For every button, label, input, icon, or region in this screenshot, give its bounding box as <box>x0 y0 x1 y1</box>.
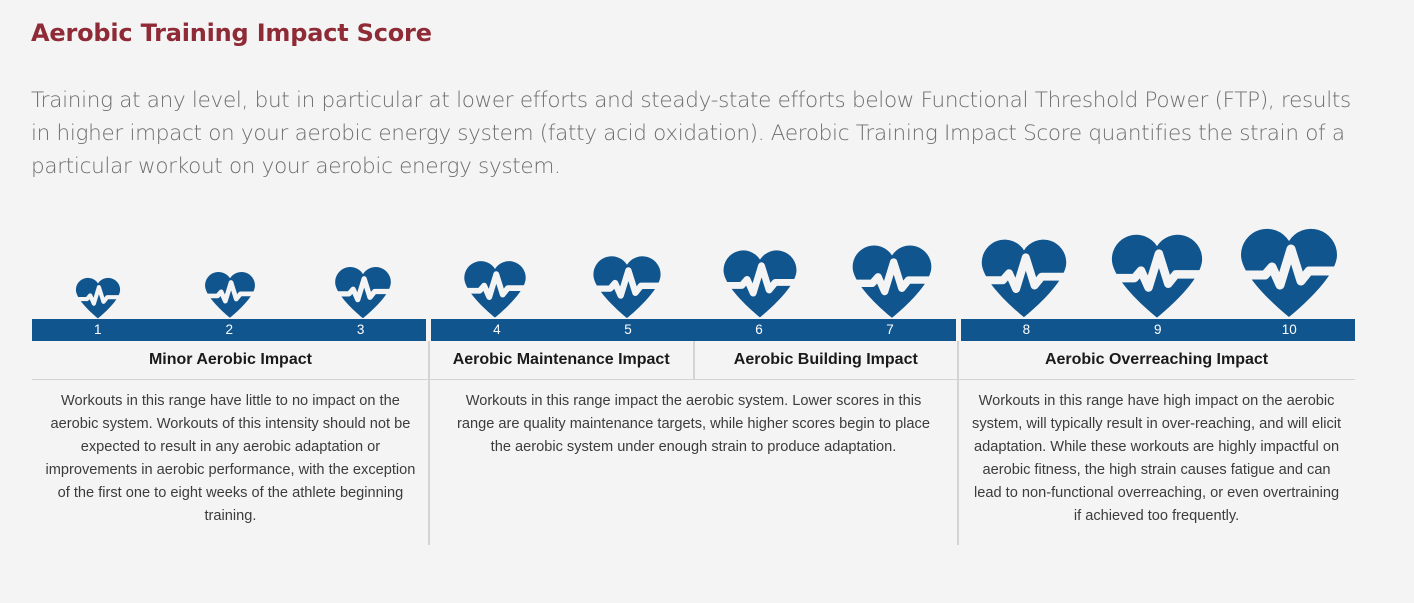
band-divider <box>428 341 430 380</box>
heart-pulse-glyph <box>851 244 933 319</box>
heart-icon-score-6 <box>694 249 826 319</box>
band-label: Minor Aerobic Impact <box>32 341 429 379</box>
band-description-row: Workouts in this range have little to no… <box>32 380 1355 550</box>
heart-icon-score-8 <box>958 238 1090 319</box>
heart-icon-score-1 <box>32 277 164 319</box>
heart-icon-score-2 <box>164 271 296 319</box>
band-label: Aerobic Overreaching Impact <box>958 341 1355 379</box>
heart-pulse-glyph <box>463 260 527 319</box>
score-number: 2 <box>163 319 294 341</box>
description-divider <box>428 380 430 545</box>
band-description: Workouts in this range have little to no… <box>44 390 417 528</box>
score-number: 1 <box>32 319 163 341</box>
score-number: 8 <box>961 319 1092 341</box>
heart-icon-score-3 <box>297 266 429 319</box>
heart-icons-row <box>32 216 1355 319</box>
score-bar-segment-2: 4567 <box>431 319 955 341</box>
score-number: 10 <box>1224 319 1355 341</box>
score-bar-segment-1: 123 <box>32 319 426 341</box>
aerobic-training-impact-score-page: Aerobic Training Impact Score Training a… <box>0 0 1414 603</box>
score-number: 4 <box>431 319 562 341</box>
band-description: Workouts in this range impact the aerobi… <box>447 390 940 459</box>
score-number: 5 <box>562 319 693 341</box>
impact-score-scale: 12345678910 Minor Aerobic ImpactAerobic … <box>32 216 1355 550</box>
heart-pulse-glyph <box>1239 227 1339 319</box>
heart-pulse-glyph <box>980 238 1068 319</box>
heart-pulse-glyph <box>592 255 662 319</box>
page-title: Aerobic Training Impact Score <box>31 19 432 47</box>
heart-icon-score-9 <box>1090 233 1222 319</box>
band-divider <box>957 341 959 380</box>
score-number-bar: 12345678910 <box>32 319 1355 341</box>
score-number: 6 <box>693 319 824 341</box>
band-label-row: Minor Aerobic ImpactAerobic Maintenance … <box>32 341 1355 380</box>
heart-icon-score-7 <box>826 244 958 319</box>
score-number: 7 <box>825 319 956 341</box>
heart-icon-score-10 <box>1223 227 1355 319</box>
description-divider <box>957 380 959 545</box>
heart-icon-score-4 <box>429 260 561 319</box>
band-description: Workouts in this range have high impact … <box>970 390 1343 528</box>
score-bar-segment-3: 8910 <box>961 319 1355 341</box>
intro-paragraph: Training at any level, but in particular… <box>31 84 1371 183</box>
score-number: 9 <box>1092 319 1223 341</box>
heart-pulse-glyph <box>204 271 256 319</box>
heart-pulse-glyph <box>1110 233 1204 319</box>
heart-pulse-glyph <box>722 249 798 319</box>
band-label: Aerobic Building Impact <box>694 341 959 379</box>
heart-pulse-glyph <box>334 266 392 319</box>
heart-icon-score-5 <box>561 255 693 319</box>
heart-pulse-glyph <box>75 277 121 319</box>
band-label: Aerobic Maintenance Impact <box>429 341 694 379</box>
band-divider <box>693 341 695 380</box>
score-number: 3 <box>295 319 426 341</box>
